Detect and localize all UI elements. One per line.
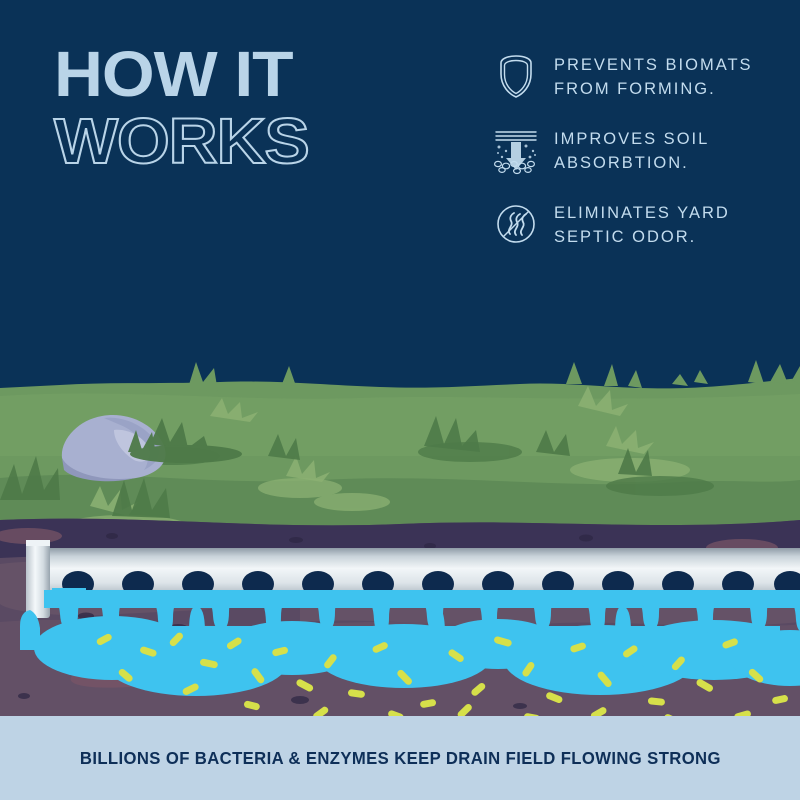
benefit-item-improves-absorption: IMPROVES SOIL ABSORBTION.: [492, 124, 792, 176]
banner-text-wrap: BILLIONS OF BACTERIA & ENZYMES KEEP DRAI…: [0, 716, 800, 800]
soil-absorption-icon: [492, 124, 540, 176]
banner-tagline: BILLIONS OF BACTERIA & ENZYMES KEEP DRAI…: [80, 748, 721, 769]
benefit-item-prevents-biomats: PREVENTS BIOMATS FROM FORMING.: [492, 50, 792, 102]
drain-field-system: [0, 540, 800, 725]
pipe-cap-rim: [26, 540, 50, 546]
benefits-list: PREVENTS BIOMATS FROM FORMING.: [492, 50, 792, 272]
benefit-label: ELIMINATES YARD SEPTIC ODOR.: [554, 198, 730, 250]
shield-icon: [492, 50, 540, 102]
odor-block-icon: [492, 198, 540, 250]
title-line-2: WORKS: [54, 111, 478, 172]
title-line-1: HOW IT: [54, 44, 478, 105]
benefit-item-eliminates-odor: ELIMINATES YARD SEPTIC ODOR.: [492, 198, 792, 250]
blue-effluent-puddles: [34, 616, 800, 696]
benefit-label: IMPROVES SOIL ABSORBTION.: [554, 124, 709, 176]
page-title: HOW IT WORKS: [54, 44, 454, 172]
benefit-label: PREVENTS BIOMATS FROM FORMING.: [554, 50, 753, 102]
infographic-canvas: BILLIONS OF BACTERIA & ENZYMES KEEP DRAI…: [0, 0, 800, 800]
